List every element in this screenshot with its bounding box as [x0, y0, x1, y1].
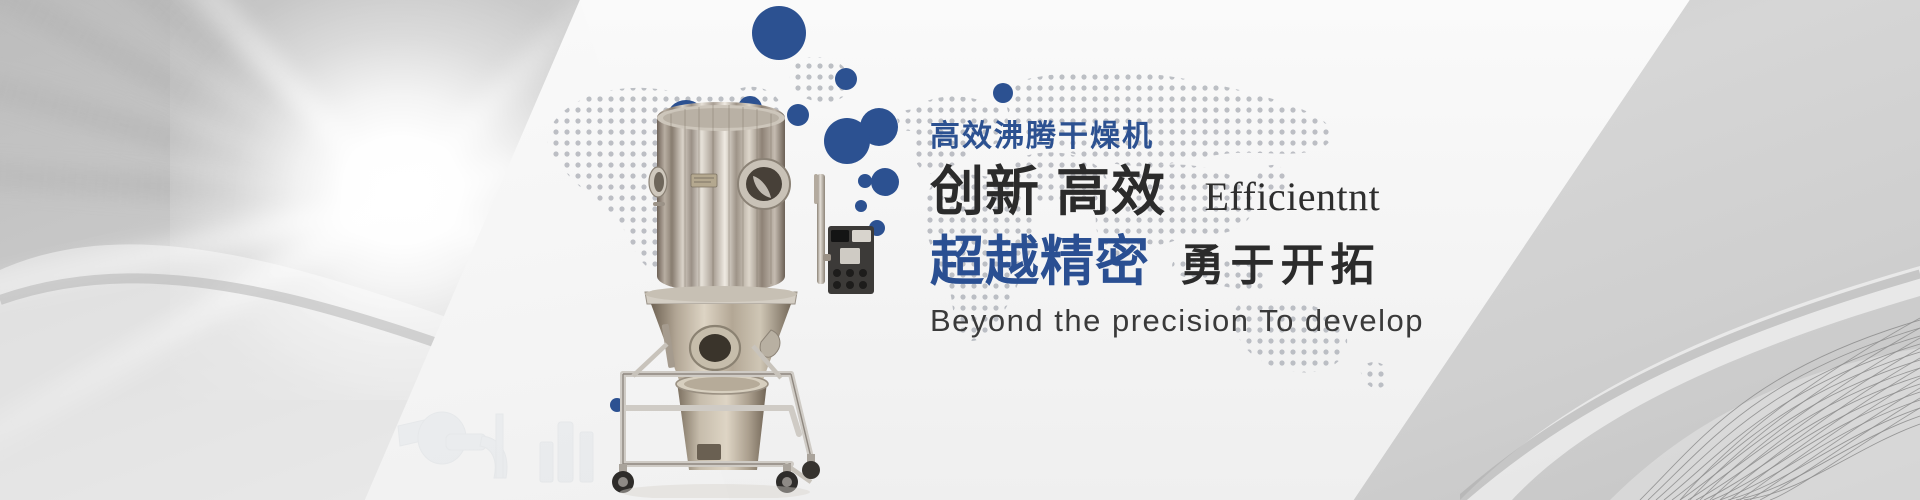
- blue-circle: [752, 6, 806, 60]
- tagline-english: Beyond the precision To develop: [930, 303, 1550, 339]
- blue-circle: [871, 168, 899, 196]
- left-sweep-band: [0, 150, 800, 500]
- caster-wheel: [776, 464, 798, 493]
- hero-banner: 高效沸腾干燥机 创新 高效 Efficientnt 超越精密 勇于开拓 Beyo…: [0, 0, 1920, 500]
- blue-circle: [858, 174, 872, 188]
- blue-circle: [869, 220, 885, 236]
- sun-ray: [0, 137, 396, 216]
- sun-ray: [391, 80, 783, 215]
- blue-circle: [860, 108, 898, 146]
- blue-circle: [610, 398, 624, 412]
- headline-en-primary: Efficientnt: [1204, 174, 1380, 219]
- caster-wheel: [802, 454, 820, 479]
- wave-line-mesh: [1490, 200, 1920, 500]
- sun-ray: [0, 0, 399, 215]
- blue-circle: [787, 104, 809, 126]
- sunburst-glow: [170, 0, 630, 400]
- headline-cn-secondary-blue: 超越精密: [930, 232, 1150, 292]
- ghost-equipment-silhouette: [390, 380, 710, 500]
- sun-ray: [0, 0, 403, 213]
- blue-circle: [824, 118, 870, 164]
- fluid-bed-dryer-machine: [585, 78, 875, 498]
- sun-ray: [386, 0, 655, 212]
- sun-ray: [390, 191, 789, 372]
- sun-ray: [0, 0, 401, 214]
- blue-circle: [993, 83, 1013, 103]
- sun-ray: [0, 192, 401, 500]
- sun-ray: [0, 190, 398, 373]
- eyebrow-text: 高效沸腾干燥机: [930, 120, 1550, 153]
- headline-cn-secondary-dark: 勇于开拓: [1180, 241, 1380, 290]
- blue-circle: [855, 200, 867, 212]
- sun-ray: [24, 0, 405, 212]
- blue-circle: [738, 96, 762, 120]
- headline-copy-block: 高效沸腾干燥机 创新 高效 Efficientnt 超越精密 勇于开拓 Beyo…: [930, 120, 1550, 339]
- headline-line-1: 创新 高效 Efficientnt: [930, 165, 1550, 219]
- blue-circle: [666, 100, 706, 140]
- blue-circle: [835, 68, 857, 90]
- headline-cn-primary: 创新 高效: [930, 162, 1166, 222]
- caster-wheel: [612, 464, 634, 493]
- headline-line-2: 超越精密 勇于开拓: [930, 235, 1550, 289]
